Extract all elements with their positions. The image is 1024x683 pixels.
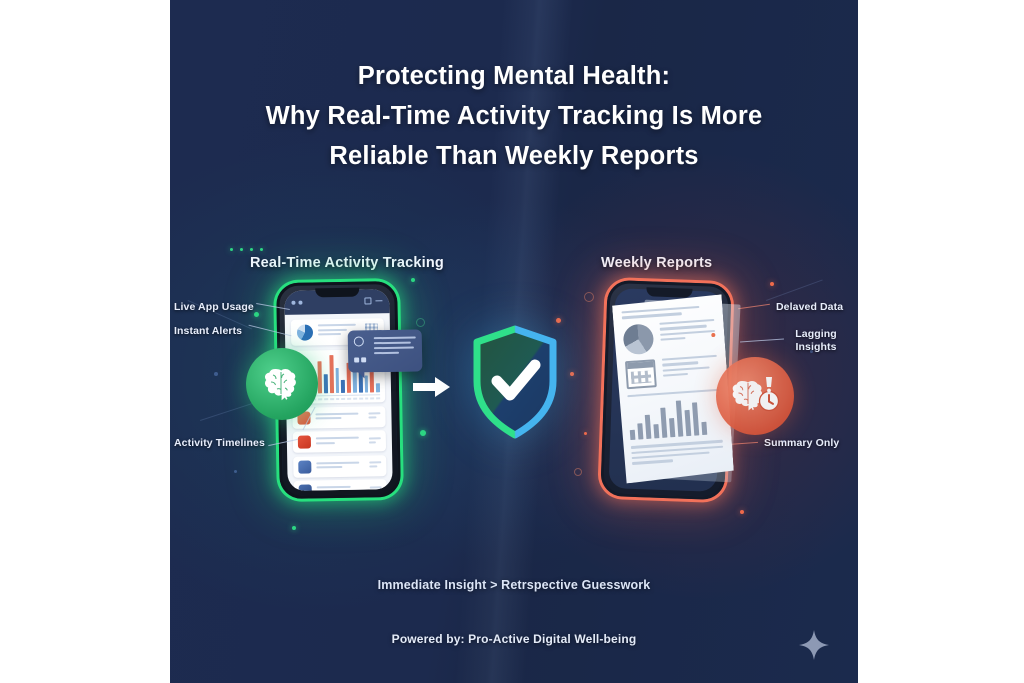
phone-notch <box>315 288 359 298</box>
decor-dot <box>260 248 263 251</box>
brain-icon-badge <box>246 348 318 420</box>
decor-dot <box>214 372 218 376</box>
left-section-heading: Real-Time Activity Tracking <box>250 255 444 271</box>
brain-clock-alert-badge <box>716 357 794 435</box>
decor-dot <box>411 278 415 282</box>
app-header-square-icon <box>364 297 371 304</box>
phone-notch <box>646 287 692 298</box>
decor-dot <box>254 312 259 317</box>
decor-dot <box>556 318 561 323</box>
decor-dot <box>570 372 574 376</box>
label-lagging-insights: Lagging Insights <box>790 328 842 353</box>
report-heading-line <box>622 313 682 320</box>
calendar-icon <box>625 359 657 389</box>
app-header-dot <box>298 301 302 305</box>
report-pie-block <box>622 319 716 355</box>
decor-dot <box>584 432 587 435</box>
app-icon <box>299 484 312 490</box>
label-activity-timelines: Activity Timelines <box>174 437 265 450</box>
decor-dot <box>230 248 233 251</box>
brain-clock-alert-icon <box>729 375 781 417</box>
app-header-dot <box>291 301 295 305</box>
title-line-1: Protecting Mental Health: <box>170 56 858 96</box>
title-line-2: Why Real-Time Activity Tracking Is More <box>170 96 858 136</box>
right-arrow-icon <box>413 375 451 399</box>
decor-dot <box>250 248 253 251</box>
list-item <box>293 430 386 453</box>
decor-dot <box>292 526 296 530</box>
decor-line <box>766 279 823 300</box>
powered-by-text: Powered by: Pro-Active Digital Well-bein… <box>170 632 858 646</box>
list-item <box>294 479 387 491</box>
decor-dot <box>240 248 243 251</box>
leader-line <box>740 338 784 342</box>
report-heading-line <box>621 306 699 314</box>
sparkle-icon <box>798 629 830 661</box>
leader-line <box>738 304 770 309</box>
report-calendar-block <box>625 355 719 389</box>
report-footer-line <box>632 459 673 464</box>
list-item-meta <box>369 437 381 445</box>
bubble-icon <box>354 336 370 366</box>
page-title: Protecting Mental Health: Why Real-Time … <box>170 56 858 176</box>
label-summary-only: Summary Only <box>764 437 839 450</box>
list-item-meta <box>369 461 381 469</box>
decor-line <box>200 401 257 420</box>
pie-chart-icon <box>622 323 654 355</box>
decor-ring <box>416 318 425 327</box>
report-bar-chart <box>628 398 722 440</box>
pie-chart-icon <box>297 324 313 340</box>
list-item <box>293 455 386 478</box>
tagline-text: Immediate Insight > Retrspective Guesswo… <box>170 578 858 592</box>
brain-icon <box>260 364 304 404</box>
app-icon <box>298 460 311 473</box>
decor-dot <box>234 470 237 473</box>
title-line-3: Reliable Than Weekly Reports <box>170 136 858 176</box>
decor-dot <box>740 510 744 514</box>
app-header-menu-icon <box>375 300 382 301</box>
decor-dot <box>770 282 774 286</box>
decor-ring <box>574 468 582 476</box>
right-section-heading: Weekly Reports <box>601 255 712 271</box>
list-item-meta <box>370 486 382 491</box>
label-delayed-data: Delaved Data <box>776 301 843 314</box>
infographic-canvas: Protecting Mental Health: Why Real-Time … <box>170 0 858 683</box>
label-live-app-usage: Live App Usage <box>174 301 254 314</box>
decor-dot <box>420 430 426 436</box>
bubble-text-lines <box>374 335 417 366</box>
notification-bubble <box>348 329 423 372</box>
label-instant-alerts: Instant Alerts <box>174 325 242 338</box>
infographic-stage: Protecting Mental Health: Why Real-Time … <box>0 0 1024 683</box>
list-item-meta <box>368 412 380 420</box>
shield-check-icon <box>470 325 560 439</box>
report-divider-line <box>627 389 719 398</box>
decor-ring <box>584 292 594 302</box>
app-icon <box>298 435 311 448</box>
